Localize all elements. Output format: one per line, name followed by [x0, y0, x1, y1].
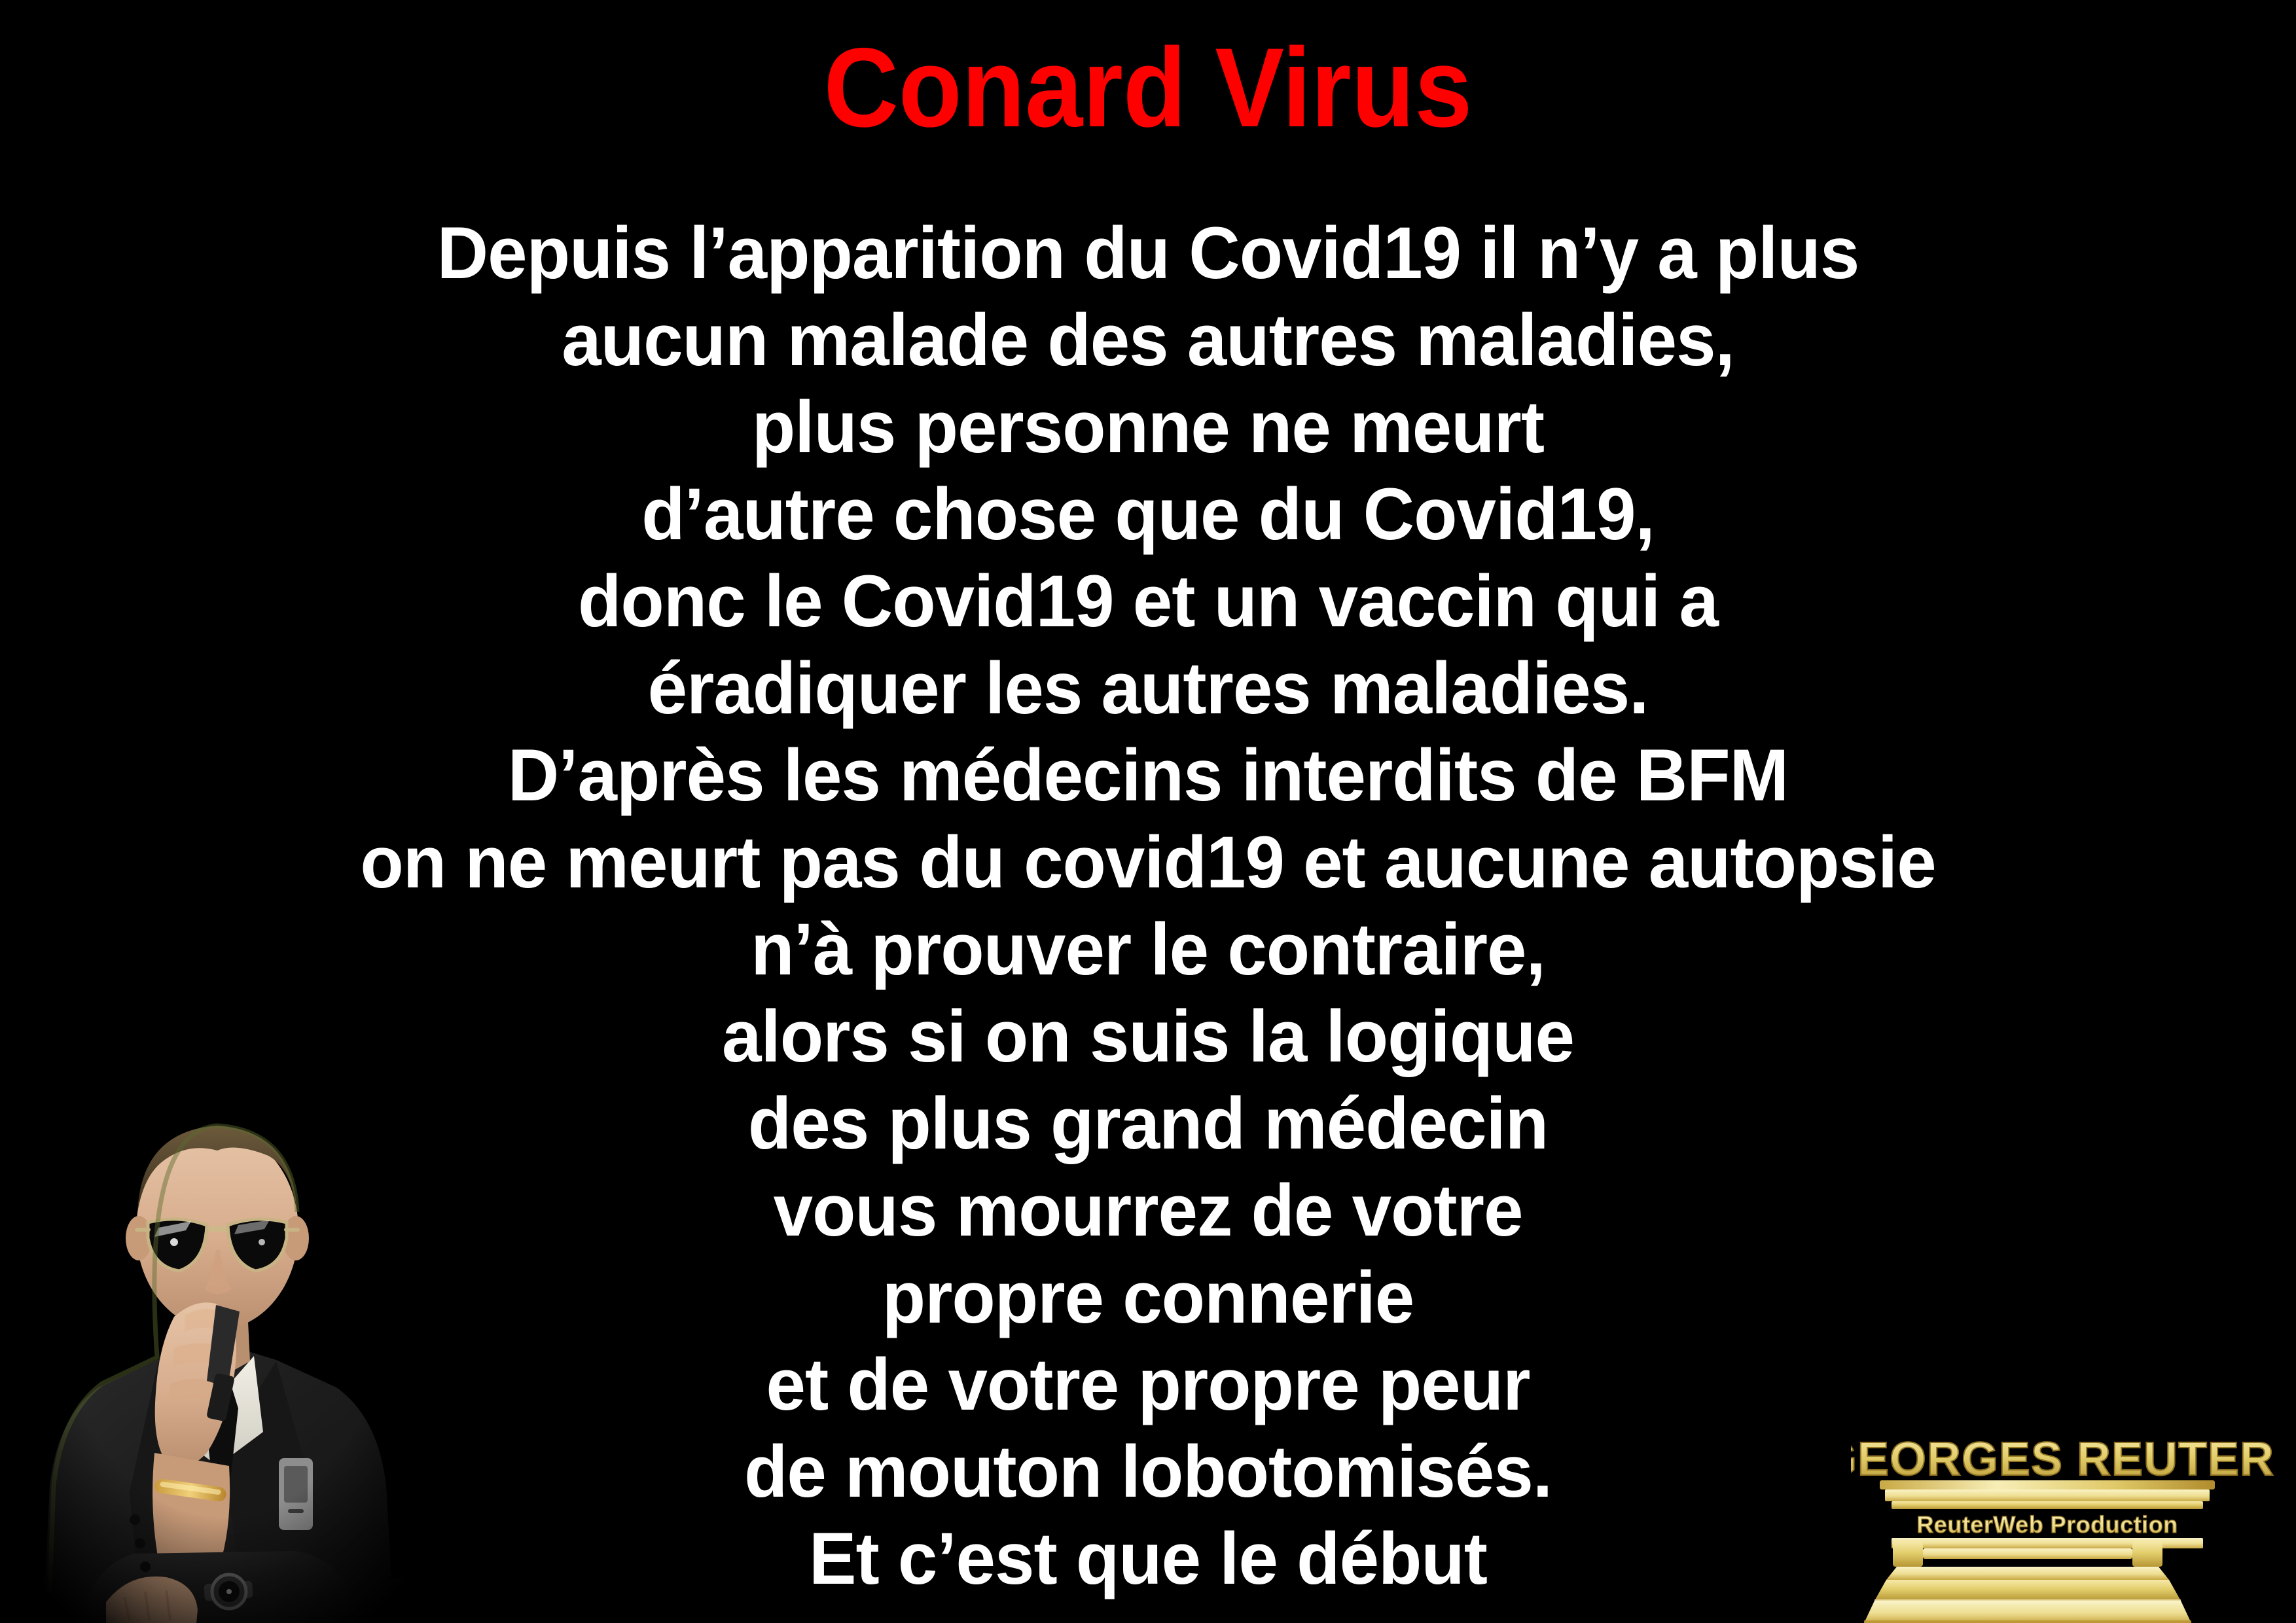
author-photo: [20, 1034, 425, 1623]
body-line: plus personne ne meurt: [35, 383, 2262, 471]
body-line: on ne meurt pas du covid19 et aucune aut…: [35, 819, 2262, 906]
body-line: éradiquer les autres maladies.: [35, 645, 2262, 732]
body-line: Depuis l’apparition du Covid19 il n’y a …: [35, 209, 2262, 296]
meme-canvas: Conard Virus Depuis l’apparition du Covi…: [0, 0, 2296, 1623]
body-line: D’après les médecins interdits de BFM: [35, 732, 2262, 819]
georges-reuter-logo[interactable]: GEORGES REUTER ReuterWeb Production: [1851, 1414, 2296, 1623]
body-line: donc le Covid19 et un vaccin qui a: [35, 558, 2262, 645]
page-title: Conard Virus: [92, 29, 2204, 147]
body-line: n’à prouver le contraire,: [35, 906, 2262, 993]
body-line: d’autre chose que du Covid19,: [35, 471, 2262, 558]
logo-top-label: GEORGES REUTER: [1851, 1433, 2274, 1486]
body-line: aucun malade des autres maladies,: [35, 296, 2262, 383]
logo-sub-label: ReuterWeb Production: [1916, 1511, 2178, 1538]
